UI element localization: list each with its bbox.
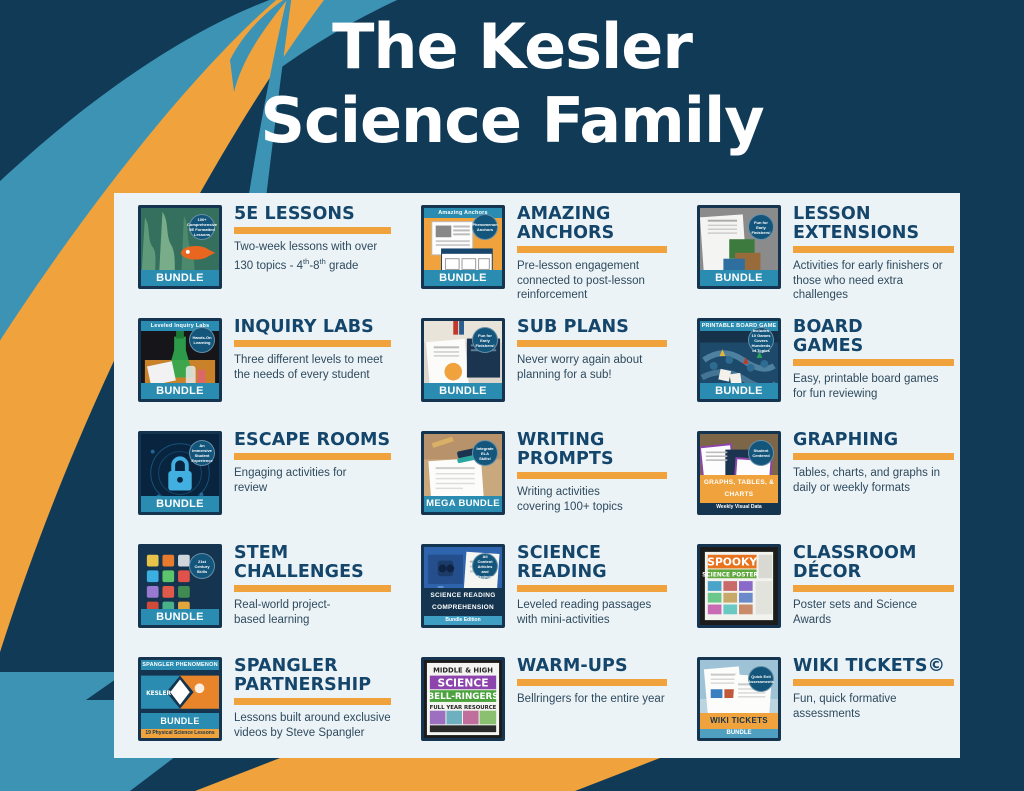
title-underline-bar <box>234 453 391 460</box>
product-badge: MEGA BUNDLE <box>424 496 502 512</box>
product-title: ESCAPE ROOMS <box>234 431 391 450</box>
product-title: AMAZING ANCHORS <box>517 205 667 243</box>
product-thumbnail-art: MIDDLE & HIGHSCIENCEBELL-RINGERSFULL YEA… <box>424 660 502 738</box>
svg-text:SPOOKY: SPOOKY <box>707 556 757 569</box>
title-underline-bar <box>793 359 954 366</box>
product-description: Engaging activities for review <box>234 466 391 495</box>
product-badge: BUNDLE <box>141 270 219 286</box>
page-title-line-2: Science Family <box>0 84 1024 158</box>
product-title: WARM-UPS <box>517 657 667 676</box>
thumbnail-seal-badge: Fun for Early Finishers! <box>472 327 498 353</box>
title-underline-bar <box>234 698 391 705</box>
product-description: Bellringers for the entire year <box>517 692 667 707</box>
thumbnail-seal-badge: An Immersive Student Experience <box>189 440 215 466</box>
thumbnail-seal-badge: Includes 10 Games Covers Hundreds of Top… <box>748 327 774 353</box>
thumbnail-seal-badge: Student Centered <box>748 440 774 466</box>
title-underline-bar <box>517 340 667 347</box>
product-badge: BUNDLE <box>700 270 778 286</box>
title-underline-bar <box>234 340 391 347</box>
thumbnail-seal-badge: Fun for Early Finishers! <box>748 214 774 240</box>
navy-wedge-bottom <box>575 758 1024 791</box>
product-title: SCIENCE READING <box>517 544 667 582</box>
product-item[interactable]: MIDDLE & HIGHSCIENCEBELL-RINGERSFULL YEA… <box>397 645 673 758</box>
product-item[interactable]: Amazing AnchorsPhenomenon AnchorsBUNDLEA… <box>397 193 673 306</box>
page-title-line-1: The Kesler <box>0 10 1024 84</box>
product-badge: GRAPHS, TABLES, & CHARTS <box>700 475 778 503</box>
product-text: SUB PLANSNever worry again about plannin… <box>505 318 667 382</box>
product-text: GRAPHINGTables, charts, and graphs in da… <box>781 431 954 495</box>
product-thumbnail[interactable]: An Immersive Student ExperienceScience E… <box>138 431 222 515</box>
title-underline-bar <box>793 246 954 253</box>
teal-swoosh-bottom-2 <box>0 672 126 760</box>
product-item[interactable]: All Content Articles and ProjectsBundle … <box>397 532 673 645</box>
thumbnail-seal-badge: Quick Exit Assessments <box>748 666 774 692</box>
product-thumbnail[interactable]: PRINTABLE BOARD GAMEIncludes 10 Games Co… <box>697 318 781 402</box>
thumbnail-seal-badge: 100+ Comprehensive 5E Formatted Lessons <box>189 214 215 240</box>
product-item[interactable]: Fun for Early Finishers!50+ Lesson Exten… <box>397 306 673 419</box>
product-title: CLASSROOM DÉCOR <box>793 544 954 582</box>
product-description: Writing activities covering 100+ topics <box>517 485 667 514</box>
title-underline-bar <box>517 585 667 592</box>
product-badge: SCIENCE READING COMPREHENSION <box>424 588 502 616</box>
product-title: BOARD GAMES <box>793 318 954 356</box>
product-thumbnail[interactable]: All Content Articles and ProjectsBundle … <box>421 544 505 628</box>
thumbnail-seal-badge: 21st Century Skills <box>189 553 215 579</box>
thumbnail-seal-badge: Integrate ELA Skills! <box>472 440 498 466</box>
thumbnail-caption: Bundle Edition <box>424 616 502 625</box>
page-title: The Kesler Science Family <box>0 10 1024 158</box>
title-underline-bar <box>234 585 391 592</box>
products-grid: 100+ Comprehensive 5E Formatted LessonsC… <box>114 193 960 758</box>
product-description: Never worry again about planning for a s… <box>517 353 667 382</box>
title-underline-bar <box>793 585 954 592</box>
title-underline-bar <box>234 227 391 234</box>
product-text: ESCAPE ROOMSEngaging activities for revi… <box>222 431 391 495</box>
thumbnail-seal-badge: Hands-On Learning <box>189 327 215 353</box>
product-text: INQUIRY LABSThree different levels to me… <box>222 318 391 382</box>
product-badge: BUNDLE <box>141 713 219 729</box>
product-description: Fun, quick formative assessments <box>793 692 954 721</box>
thumbnail-seal-badge: All Content Articles and Projects <box>472 553 498 579</box>
product-title: INQUIRY LABS <box>234 318 391 337</box>
product-text: CLASSROOM DÉCORPoster sets and Science A… <box>781 544 954 627</box>
title-underline-bar <box>517 472 667 479</box>
product-text: LESSON EXTENSIONSActivities for early fi… <box>781 205 954 303</box>
product-thumbnail[interactable]: Student CenteredWeekly Visual DataGRAPHS… <box>697 431 781 515</box>
product-title: LESSON EXTENSIONS <box>793 205 954 243</box>
product-title: WIKI TICKETS© <box>793 657 954 676</box>
svg-text:KESLER: KESLER <box>146 691 171 697</box>
product-thumbnail[interactable]: Amazing AnchorsPhenomenon AnchorsBUNDLE <box>421 205 505 289</box>
product-item[interactable]: 100+ Comprehensive 5E Formatted LessonsC… <box>114 193 397 306</box>
product-title: 5E LESSONS <box>234 205 391 224</box>
product-text: 5E LESSONSTwo-week lessons with over130 … <box>222 205 391 273</box>
product-thumbnail[interactable]: 21st Century SkillsSTEM ChallengesBUNDLE <box>138 544 222 628</box>
products-card: 100+ Comprehensive 5E Formatted LessonsC… <box>114 193 960 758</box>
product-item[interactable]: Quick Exit AssessmentsBUNDLEWIKI TICKETS… <box>673 645 960 758</box>
thumbnail-caption: BUNDLE <box>700 729 778 738</box>
product-thumbnail[interactable]: Fun for Early Finishers!50+ Lesson Exten… <box>421 318 505 402</box>
product-badge: BUNDLE <box>424 270 502 286</box>
product-item[interactable]: Fun for Early Finishers!50+ Lesson Exten… <box>673 193 960 306</box>
product-badge: BUNDLE <box>141 496 219 512</box>
title-underline-bar <box>517 246 667 253</box>
product-description: Pre-lesson engagement connected to post-… <box>517 259 667 303</box>
product-badge: WIKI TICKETS <box>700 713 778 729</box>
orange-swoosh-bottom <box>195 758 700 791</box>
product-thumbnail[interactable]: Integrate ELA Skills!Science Writing Pro… <box>421 431 505 515</box>
product-text: WARM-UPSBellringers for the entire year <box>505 657 667 707</box>
product-text: WIKI TICKETS©Fun, quick formative assess… <box>781 657 954 721</box>
product-badge: BUNDLE <box>424 383 502 399</box>
product-thumbnail-art: SPOOKYSCIENCE POSTERS <box>700 547 778 625</box>
product-item[interactable]: SPOOKYSCIENCE POSTERSCLASSROOM DÉCORPost… <box>673 532 960 645</box>
product-title: GRAPHING <box>793 431 954 450</box>
title-underline-bar <box>793 679 954 686</box>
product-text: WRITING PROMPTSWriting activities coveri… <box>505 431 667 514</box>
title-underline-bar <box>793 453 954 460</box>
svg-text:SCIENCE POSTERS: SCIENCE POSTERS <box>702 572 762 578</box>
product-thumbnail[interactable]: SPOOKYSCIENCE POSTERS <box>697 544 781 628</box>
product-text: SCIENCE READINGLeveled reading passages … <box>505 544 667 627</box>
product-text: STEM CHALLENGESReal-world project- based… <box>222 544 391 627</box>
product-thumbnail[interactable]: 100+ Comprehensive 5E Formatted LessonsC… <box>138 205 222 289</box>
product-description: Real-world project- based learning <box>234 598 391 627</box>
product-item[interactable]: PRINTABLE BOARD GAMEIncludes 10 Games Co… <box>673 306 960 419</box>
product-description: Leveled reading passages with mini-activ… <box>517 598 667 627</box>
product-description: Lessons built around exclusive videos by… <box>234 711 391 740</box>
product-badge: BUNDLE <box>141 383 219 399</box>
product-item[interactable]: An Immersive Student ExperienceScience E… <box>114 419 397 532</box>
product-item[interactable]: Student CenteredWeekly Visual DataGRAPHS… <box>673 419 960 532</box>
product-thumbnail[interactable]: Quick Exit AssessmentsBUNDLEWIKI TICKETS <box>697 657 781 741</box>
product-item[interactable]: Leveled Inquiry LabsHands-On LearningBUN… <box>114 306 397 419</box>
product-description: Easy, printable board games for fun revi… <box>793 372 954 401</box>
product-description: Tables, charts, and graphs in daily or w… <box>793 466 954 495</box>
product-badge: BUNDLE <box>141 609 219 625</box>
title-underline-bar <box>517 679 667 686</box>
product-title: SUB PLANS <box>517 318 667 337</box>
product-title: SPANGLER PARTNERSHIP <box>234 657 391 695</box>
svg-text:MIDDLE & HIGH: MIDDLE & HIGH <box>433 667 493 675</box>
product-item[interactable]: 21st Century SkillsSTEM ChallengesBUNDLE… <box>114 532 397 645</box>
thumbnail-caption: 19 Physical Science Lessons <box>141 729 219 738</box>
thumbnail-seal-badge: Phenomenon Anchors <box>472 214 498 240</box>
product-item[interactable]: KESLERSPANGLER PHENOMENON19 Physical Sci… <box>114 645 397 758</box>
svg-text:BELL-RINGERS: BELL-RINGERS <box>427 692 498 702</box>
thumbnail-top-label: SPANGLER PHENOMENON <box>141 660 219 670</box>
product-thumbnail[interactable]: MIDDLE & HIGHSCIENCEBELL-RINGERSFULL YEA… <box>421 657 505 741</box>
product-text: AMAZING ANCHORSPre-lesson engagement con… <box>505 205 667 303</box>
product-title: STEM CHALLENGES <box>234 544 391 582</box>
product-description: Three different levels to meet the needs… <box>234 353 391 382</box>
product-thumbnail[interactable]: Fun for Early Finishers!50+ Lesson Exten… <box>697 205 781 289</box>
product-title: WRITING PROMPTS <box>517 431 667 469</box>
product-description: Activities for early finishers or those … <box>793 259 954 303</box>
product-thumbnail[interactable]: Leveled Inquiry LabsHands-On LearningBUN… <box>138 318 222 402</box>
product-text: SPANGLER PARTNERSHIPLessons built around… <box>222 657 391 740</box>
product-description: Poster sets and Science Awards <box>793 598 954 627</box>
product-item[interactable]: Integrate ELA Skills!Science Writing Pro… <box>397 419 673 532</box>
thumbnail-caption: Weekly Visual Data <box>700 503 778 512</box>
svg-text:FULL YEAR RESOURCE: FULL YEAR RESOURCE <box>430 705 497 711</box>
svg-text:SCIENCE: SCIENCE <box>437 676 488 689</box>
product-text: BOARD GAMESEasy, printable board games f… <box>781 318 954 401</box>
product-thumbnail[interactable]: KESLERSPANGLER PHENOMENON19 Physical Sci… <box>138 657 222 741</box>
product-badge: BUNDLE <box>700 383 778 399</box>
product-description: Two-week lessons with over130 topics - 4… <box>234 240 391 273</box>
